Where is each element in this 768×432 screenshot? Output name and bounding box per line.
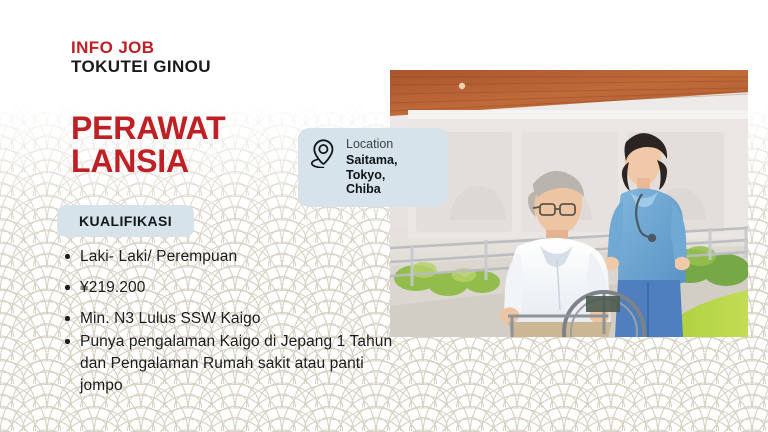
kicker-line-info-job: INFO JOB [71, 38, 211, 57]
location-card: Location Saitama, Tokyo, Chiba [298, 128, 448, 207]
headline-line-1: PERAWAT [71, 112, 225, 145]
list-item: Min. N3 Lulus SSW Kaigo [62, 308, 402, 330]
poster-canvas: INFO JOB TOKUTEI GINOU PERAWAT LANSIA KU… [0, 0, 768, 432]
map-pin-icon [310, 138, 337, 168]
headline-line-2: LANSIA [71, 145, 225, 178]
page-title: PERAWAT LANSIA [71, 112, 225, 179]
list-item: ¥219.200 [62, 277, 402, 299]
location-label: Location [346, 137, 432, 152]
kicker-block: INFO JOB TOKUTEI GINOU [71, 38, 211, 76]
list-item: Laki- Laki/ Perempuan [62, 246, 402, 268]
qualification-list: Laki- Laki/ Perempuan ¥219.200 Min. N3 L… [62, 246, 402, 397]
kicker-line-tokutei-ginou: TOKUTEI GINOU [71, 57, 211, 76]
location-value-line-2: Chiba [346, 182, 432, 197]
location-text: Location Saitama, Tokyo, Chiba [346, 137, 432, 197]
list-item: Punya pengalaman Kaigo di Jepang 1 Tahun… [62, 331, 402, 397]
qualification-badge: KUALIFIKASI [57, 205, 194, 237]
location-value-line-1: Saitama, Tokyo, [346, 153, 432, 183]
